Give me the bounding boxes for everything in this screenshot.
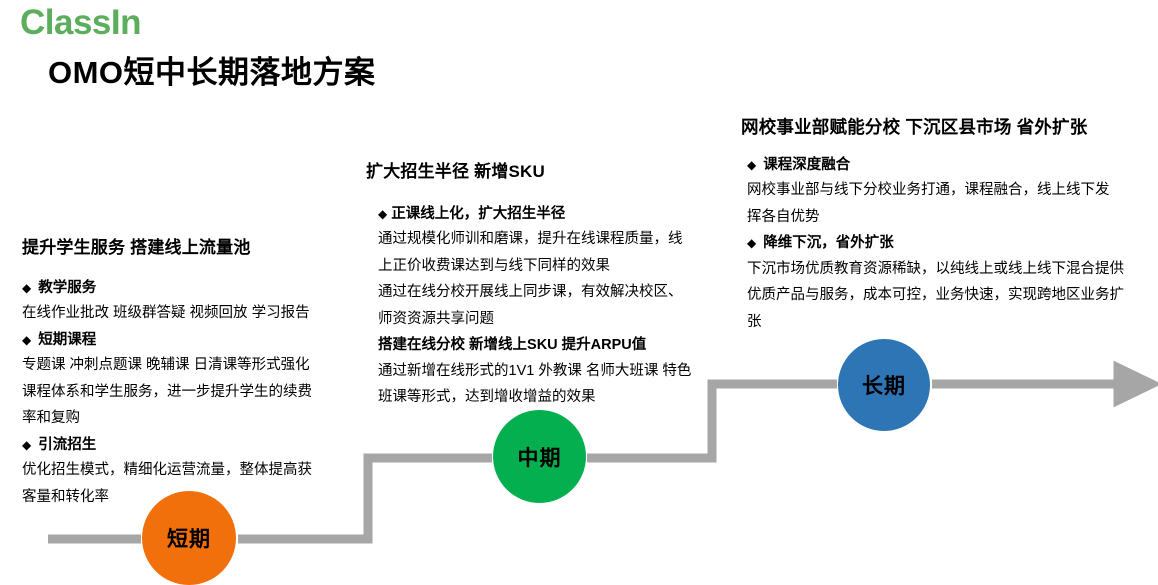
bullet-heading: ◆ 正课线上化，扩大招生半径 [378, 203, 701, 225]
bullet-title: 课程深度融合 [763, 154, 850, 176]
bullet-body-line: 通过规模化师训和磨课，提升在线课程质量，线 [378, 228, 701, 251]
diamond-bullet-icon: ◆ [747, 237, 756, 249]
column-heading: 提升学生服务 搭建线上流量池 [22, 233, 347, 258]
bullet-body-line: 优质产品与服务，成本可控，业务快速，实现跨地区业务扩 [747, 284, 1143, 307]
bullet-body-line: 张 [747, 311, 1143, 334]
bullet-heading: ◆ 降维下沉，省外扩张 [747, 232, 1143, 254]
timeline-node-long-term[interactable]: 长期 [838, 339, 930, 431]
diamond-bullet-icon: ◆ [22, 282, 31, 294]
bullet-body-line: 通过新增在线形式的1V1 外教课 名师大班课 特色 [378, 360, 701, 383]
diamond-bullet-icon: ◆ [747, 159, 756, 171]
bullet-list: ◆ 正课线上化，扩大招生半径 通过规模化师训和磨课，提升在线课程质量，线 上正价… [366, 203, 701, 410]
timeline-node-mid-term[interactable]: 中期 [493, 410, 586, 503]
column-long-term: 网校事业部赋能分校 下沉区县市场 省外扩张 ◆ 课程深度融合 网校事业部与线下分… [741, 114, 1143, 337]
diamond-bullet-icon: ◆ [378, 208, 387, 220]
bullet-body-line: 上正价收费课达到与线下同样的效果 [378, 255, 701, 278]
bullet-heading: ◆ 教学服务 [22, 277, 347, 299]
bullet-body-line: 率和复购 [22, 407, 347, 430]
bullet-list: ◆ 课程深度融合 网校事业部与线下分校业务打通，课程融合，线上线下发 挥各自优势… [741, 154, 1143, 334]
bullet-heading: ◆ 引流招生 [22, 434, 347, 456]
bullet-body-line: 师资资源共享问题 [378, 308, 701, 331]
bullet-body-line: 挥各自优势 [747, 206, 1143, 229]
slide-canvas: ClassIn OMO短中长期落地方案 短期 中期 长期 提升学生服务 搭建线上… [0, 0, 1158, 585]
bullet-body-line: 客量和转化率 [22, 486, 347, 509]
bullet-heading: ◆ 课程深度融合 [747, 154, 1143, 176]
bullet-body-line: 优化招生模式，精细化运营流量，整体提高获 [22, 459, 347, 482]
bullet-title: 引流招生 [38, 434, 96, 456]
bullet-title: 降维下沉，省外扩张 [763, 232, 894, 254]
bullet-heading: ◆ 短期课程 [22, 329, 347, 351]
column-heading: 网校事业部赋能分校 下沉区县市场 省外扩张 [741, 114, 1143, 139]
column-mid-term: 扩大招生半径 新增SKU ◆ 正课线上化，扩大招生半径 通过规模化师训和磨课，提… [366, 157, 701, 413]
diamond-bullet-icon: ◆ [22, 334, 31, 346]
bullet-title: 教学服务 [38, 277, 96, 299]
bullet-list: ◆ 教学服务 在线作业批改 班级群答疑 视频回放 学习报告 ◆ 短期课程 专题课… [22, 277, 347, 509]
bullet-title: 正课线上化，扩大招生半径 [391, 203, 565, 225]
bullet-body-line: 班课等形式，达到增收增益的效果 [378, 386, 701, 409]
bullet-title: 搭建在线分校 新增线上SKU 提升ARPU值 [378, 334, 701, 357]
bullet-title: 短期课程 [38, 329, 96, 351]
bullet-body-line: 网校事业部与线下分校业务打通，课程融合，线上线下发 [747, 179, 1143, 202]
bullet-body-line: 专题课 冲刺点题课 晚辅课 日清课等形式强化 [22, 354, 347, 377]
column-short-term: 提升学生服务 搭建线上流量池 ◆ 教学服务 在线作业批改 班级群答疑 视频回放 … [22, 233, 347, 512]
diamond-bullet-icon: ◆ [22, 439, 31, 451]
column-heading: 扩大招生半径 新增SKU [366, 157, 701, 182]
bullet-body-line: 下沉市场优质教育资源稀缺，以纯线上或线上线下混合提供 [747, 258, 1143, 281]
bullet-body-line: 在线作业批改 班级群答疑 视频回放 学习报告 [22, 302, 347, 325]
bullet-body-line: 通过在线分校开展线上同步课，有效解决校区、 [378, 281, 701, 304]
bullet-body-line: 课程体系和学生服务，进一步提升学生的续费 [22, 381, 347, 404]
